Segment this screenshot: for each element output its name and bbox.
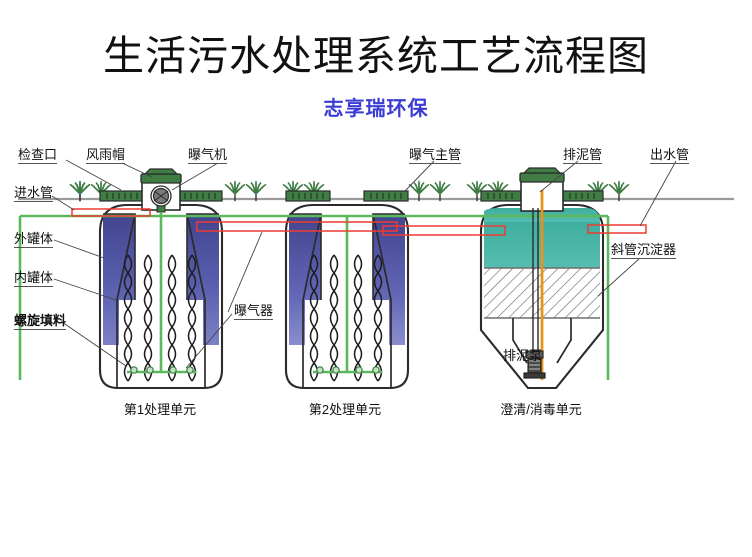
label-sludge-pipe: 排泥管 [563,147,602,164]
label-outer-tank: 外罐体 [14,231,53,248]
label-main-aeration-pipe: 曝气主管 [409,147,461,164]
label-inner-tank: 内罐体 [14,270,53,287]
label-rain-cap: 风雨帽 [86,147,125,164]
inspection-port-cover-6[interactable] [563,191,603,201]
label-outlet-pipe: 出水管 [650,147,689,164]
label-tube-settler: 斜管沉淀器 [611,242,676,259]
label-inspection-port: 检查口 [18,147,57,164]
rain-cap-icon [141,174,181,183]
process-flow-diagram: 检查口 风雨帽 曝气机 进水管 外罐体 内罐体 螺旋填料 曝气器 曝气主管 排泥… [0,0,752,557]
diffuser-icon [147,367,153,373]
unit-label-2: 第2处理单元 [285,402,405,418]
unit-label-1: 第1处理单元 [100,402,220,418]
diffuser-icon [131,367,137,373]
inspection-port-cover-5[interactable] [481,191,521,201]
diffuser-icon [170,367,176,373]
label-sludge-pump: 排泥泵 [503,348,542,364]
label-spiral-filler: 螺旋填料 [14,313,66,330]
diffuser-icon [317,367,323,373]
unit-label-3: 澄清/消毒单元 [475,402,607,418]
diffuser-icon [333,367,339,373]
diffuser-icon [356,367,362,373]
aerator-blower-house[interactable] [141,169,181,212]
label-inlet-pipe: 进水管 [14,185,53,202]
label-diffuser: 曝气器 [234,303,273,320]
diagram-svg [0,0,752,557]
diagram-canvas: 生活污水处理系统工艺流程图 志享瑞环保 [0,0,752,557]
diffuser-icon [187,367,193,373]
diffuser-icon [373,367,379,373]
label-aerator-blower: 曝气机 [188,147,227,164]
